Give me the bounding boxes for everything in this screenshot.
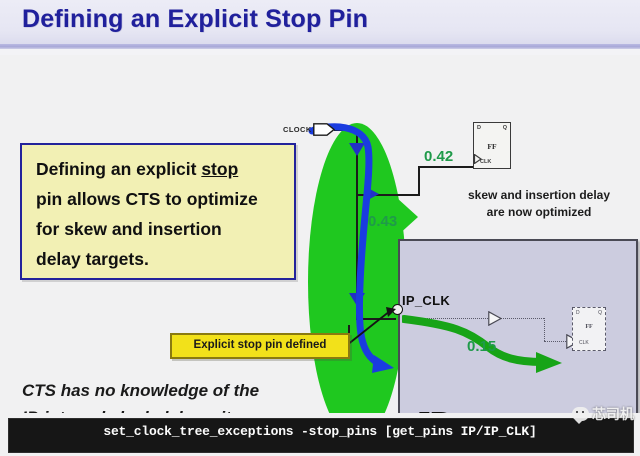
slide-root: Defining an Explicit Stop Pin CLOCK: [0, 0, 640, 456]
note-line-2: pin allows CTS to optimize: [36, 184, 280, 214]
slide-canvas: CLOCK 0.42 0.43 D Q FF CLK skew and inse…: [0, 55, 640, 413]
command-text: set_clock_tree_exceptions -stop_pins [ge…: [0, 424, 640, 439]
clock-port-icon: [313, 123, 335, 136]
skew-note: skew and insertion delay are now optimiz…: [450, 187, 628, 221]
note-line-1: Defining an explicit stop: [36, 154, 280, 184]
note-line-1-underlined: stop: [201, 159, 238, 179]
ip-clk-label: IP_CLK: [402, 293, 450, 308]
explanation-note: Defining an explicit stop pin allows CTS…: [20, 143, 296, 280]
stop-pin-callout: Explicit stop pin defined: [170, 333, 350, 359]
skew-note-line-1: skew and insertion delay: [450, 187, 628, 204]
page-title: Defining an Explicit Stop Pin: [22, 5, 368, 34]
delay-label-to-ff: 0.42: [424, 148, 453, 165]
delay-label-ip-internal: 0.15: [467, 338, 496, 355]
ff-block-name: FF: [474, 142, 510, 151]
note-line-1-text: Defining an explicit: [36, 159, 201, 179]
note-line-4: delay targets.: [36, 244, 280, 274]
ff-block-outer: D Q FF CLK: [473, 122, 511, 169]
stop-pin-callout-label: Explicit stop pin defined: [172, 335, 348, 356]
watermark-text: 芯司机: [592, 404, 634, 424]
skew-note-line-2: are now optimized: [450, 204, 628, 221]
delay-label-to-ipclk: 0.43: [368, 213, 397, 230]
note-line-3: for skew and insertion: [36, 214, 280, 244]
ff-pin-q: Q: [503, 125, 507, 131]
ff-block-inner: D Q FF CLK: [572, 307, 606, 351]
ff-inner-pin-clk: CLK: [579, 340, 589, 346]
ff-inner-pin-q: Q: [598, 310, 602, 316]
ff-inner-name: FF: [573, 324, 605, 330]
clock-port-label: CLOCK: [283, 125, 312, 134]
watermark: 芯司机: [572, 404, 634, 424]
ff-pin-d: D: [477, 125, 481, 131]
wechat-icon: [572, 407, 589, 421]
ff-inner-pin-d: D: [576, 310, 580, 316]
caption-line-1: CTS has no knowledge of the: [22, 377, 352, 404]
ff-clk-triangle-icon: [474, 154, 482, 164]
